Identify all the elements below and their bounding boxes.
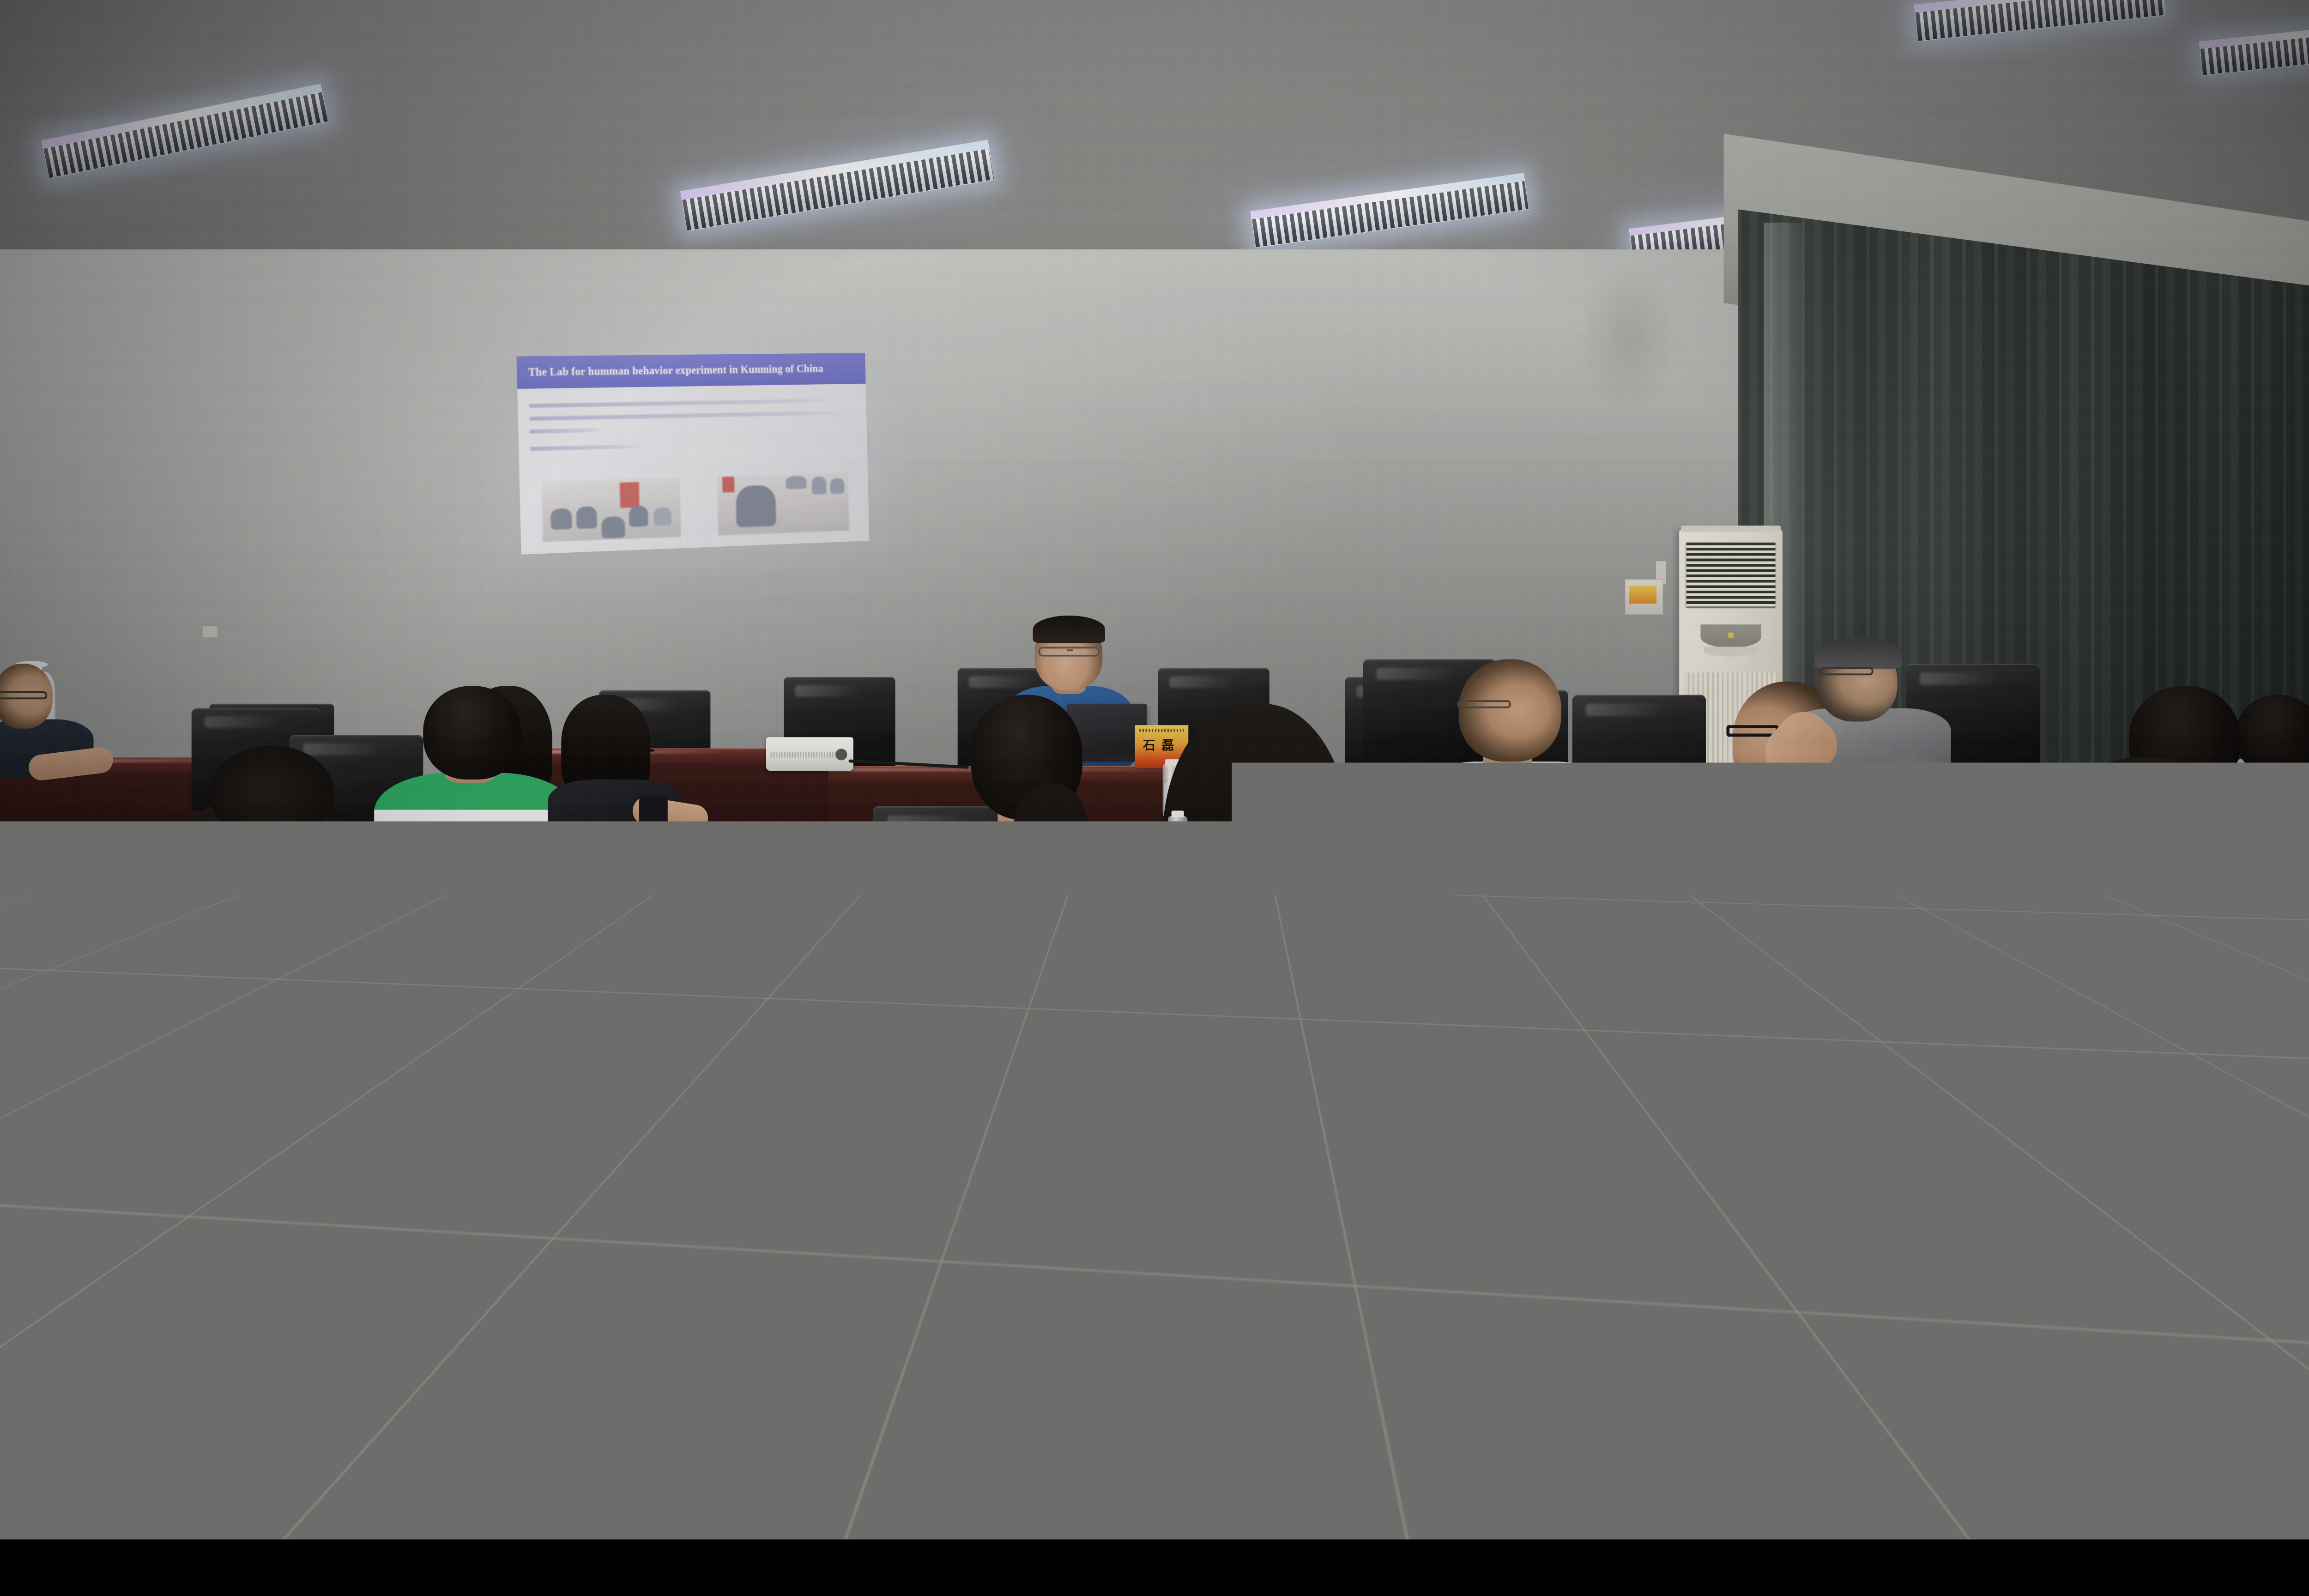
- eyeglasses-icon: [1804, 944, 1842, 971]
- bottled-water-green-label: [1168, 816, 1187, 875]
- blue-plastic-cup: [1266, 989, 1298, 1012]
- glasses-icon: [1457, 700, 1511, 708]
- glasses-icon: [1820, 667, 1874, 675]
- status-led-icon: [1728, 633, 1734, 638]
- asset-tag-foreground-2: [1868, 1421, 1904, 1456]
- shoe-red: [1363, 1465, 1430, 1498]
- air-conditioner-panel: [1700, 624, 1761, 647]
- projector-lens-icon: [835, 749, 847, 760]
- backpack-foreground: [512, 1261, 610, 1367]
- audience-person-a4: [548, 695, 681, 838]
- wall-stain: [1577, 267, 1679, 414]
- wall-outlet: [203, 626, 218, 637]
- desk-foreground-right: [1648, 1274, 2309, 1539]
- head-blue-tshirt: [154, 788, 386, 1056]
- projector: [766, 737, 853, 771]
- desk-row-mid-right: [1082, 873, 1394, 931]
- screen-reflection-on-floor: [662, 1105, 830, 1194]
- audience-person-a15: [0, 664, 98, 775]
- presenter-glasses-icon: [1038, 647, 1100, 656]
- desk-leg-a: [944, 1060, 964, 1265]
- chair-row3-b[interactable]: [506, 822, 644, 933]
- desk-foreground-left: [0, 1327, 592, 1539]
- audience-person-a9-grey-shirt: [1786, 641, 1951, 788]
- shoe-white: [1425, 1479, 1501, 1510]
- desk-leg-d: [1662, 940, 1677, 1073]
- desk-side-panel: [1060, 1194, 1247, 1539]
- air-conditioner-grille: [1686, 542, 1777, 609]
- electrical-box: [1625, 579, 1663, 615]
- bag-under-desk: [1091, 1034, 1194, 1207]
- desk-leg-c: [1327, 1158, 1348, 1381]
- projection-screen: The Lab for humman behavior experiment i…: [516, 353, 869, 555]
- warning-label-sticker: [1629, 586, 1656, 604]
- desk-leg-b: [672, 940, 688, 1082]
- smartphone[interactable]: [1889, 775, 1939, 866]
- glasses-icon: [0, 691, 47, 699]
- seminar-room-photo: The Lab for humman behavior experiment i…: [0, 0, 2309, 1539]
- desk-shadow-mass: [1229, 1372, 1675, 1540]
- desk-row4-left: [0, 1024, 641, 1167]
